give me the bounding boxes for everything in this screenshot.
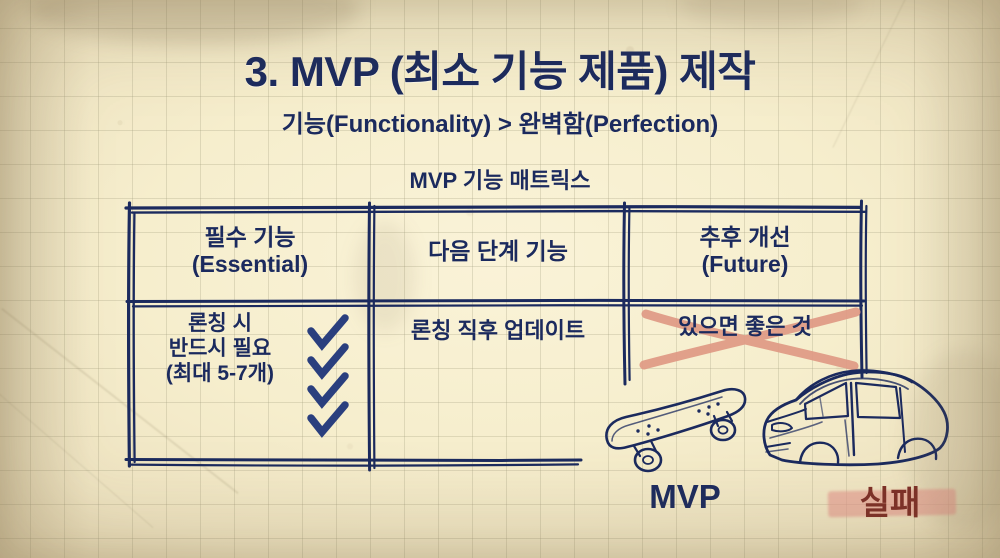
matrix-header-cell-2-line1: 다음 단계 기능 (374, 238, 622, 265)
matrix-header-cell-1-line1: 필수 기능 (132, 224, 368, 251)
matrix-bottom-border (126, 460, 581, 466)
check-icon (311, 318, 345, 345)
matrix-right-border (861, 201, 867, 377)
skateboard-illustration (606, 389, 745, 471)
matrix-drawing (0, 0, 1000, 558)
matrix-header-divider (127, 300, 864, 306)
matrix-body-cell-2-line1: 론칭 직후 업데이트 (374, 318, 622, 344)
matrix-header-cell-1: 필수 기능 (Essential) (132, 224, 368, 278)
matrix-body-cell-1-line3: (최대 5-7개) (130, 362, 310, 387)
slide-canvas: 3. MVP (최소 기능 제품) 제작 기능(Functionality) >… (0, 0, 1000, 558)
matrix-top-border (126, 206, 866, 212)
matrix-header-cell-2: 다음 단계 기능 (374, 238, 622, 265)
matrix-body-cell-3-line1: 있으면 좋은 것 (634, 314, 856, 340)
matrix-header-cell-1-line2: (Essential) (132, 251, 368, 278)
checkmark-group (311, 318, 345, 432)
matrix-body-cell-1: 론칭 시 반드시 필요 (최대 5-7개) (130, 312, 310, 386)
matrix-body-cell-2: 론칭 직후 업데이트 (374, 318, 622, 344)
check-icon (311, 376, 345, 403)
skateboard-caption: MVP (600, 478, 770, 516)
matrix-body-cell-1-line1: 론칭 시 (130, 312, 310, 337)
car-illustration (764, 370, 948, 464)
matrix-header-cell-3-line1: 추후 개선 (630, 224, 860, 251)
check-icon (311, 405, 345, 432)
matrix-header-cell-3-line2: (Future) (630, 251, 860, 278)
check-icon (311, 347, 345, 374)
matrix-header-cell-3: 추후 개선 (Future) (630, 224, 860, 278)
car-caption: 실패 (800, 476, 980, 524)
car-caption-wrapper: 실패 (800, 476, 980, 524)
matrix-column-divider-2 (624, 203, 630, 384)
matrix-body-cell-3: 있으면 좋은 것 (634, 314, 856, 340)
matrix-body-cell-1-line2: 반드시 필요 (130, 337, 310, 362)
